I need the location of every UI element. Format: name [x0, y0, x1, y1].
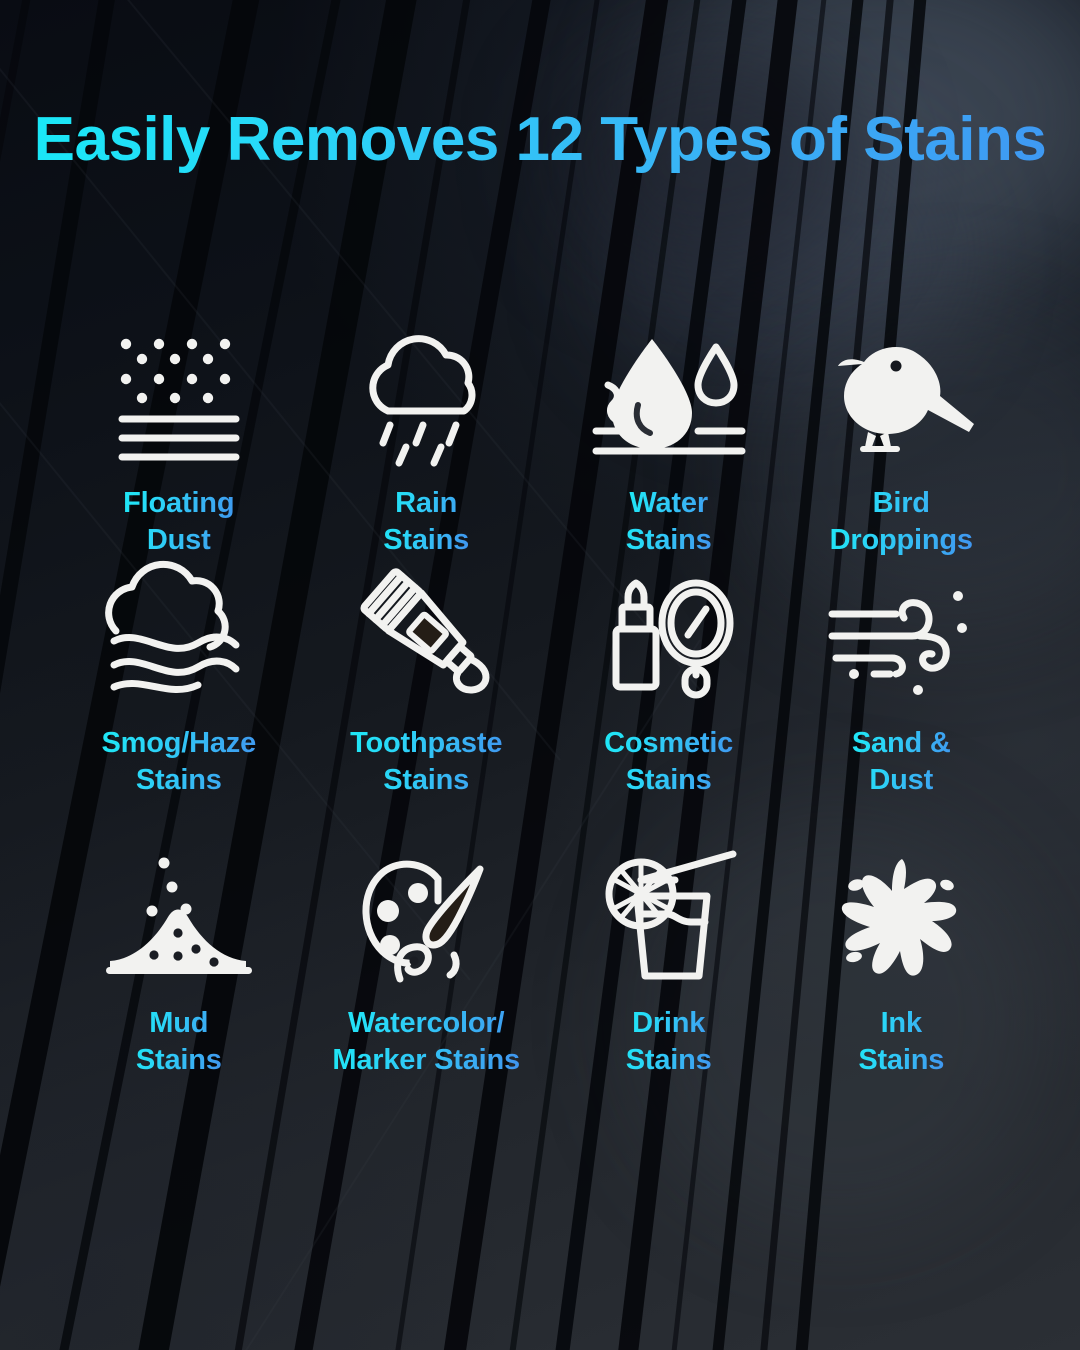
- floating-dust-icon: [104, 330, 254, 465]
- stain-card-sand-dust[interactable]: Sand & Dust: [782, 570, 1020, 798]
- stain-card-floating-dust[interactable]: Floating Dust: [60, 330, 298, 558]
- stain-card-label: Cosmetic Stains: [604, 725, 733, 798]
- stain-card-label: Floating Dust: [123, 485, 234, 558]
- stain-row: Smog/Haze Stains: [60, 570, 1020, 850]
- mud-mound-icon: [104, 850, 254, 985]
- stain-card-label: Sand & Dust: [852, 725, 951, 798]
- ink-splatter-icon: [834, 850, 969, 985]
- stain-card-label: Rain Stains: [383, 485, 469, 558]
- wind-dust-icon: [826, 570, 976, 705]
- stain-card-smog-haze[interactable]: Smog/Haze Stains: [60, 570, 298, 798]
- stain-card-label: Toothpaste Stains: [350, 725, 502, 798]
- drink-glass-icon: [599, 850, 739, 985]
- cosmetic-mirror-icon: [604, 570, 734, 705]
- stain-card-water-stains[interactable]: Water Stains: [555, 330, 783, 558]
- stain-card-mud[interactable]: Mud Stains: [60, 850, 298, 1078]
- stain-card-label: Smog/Haze Stains: [102, 725, 257, 798]
- rain-cloud-icon: [356, 330, 496, 465]
- stain-card-toothpaste[interactable]: Toothpaste Stains: [298, 570, 555, 798]
- stain-card-bird-droppings[interactable]: Bird Droppings: [782, 330, 1020, 558]
- toothpaste-tube-icon: [349, 570, 504, 705]
- stain-card-rain-stains[interactable]: Rain Stains: [298, 330, 555, 558]
- stain-row: Floating Dust: [60, 330, 1020, 570]
- paint-palette-icon: [356, 850, 496, 985]
- stain-card-ink[interactable]: Ink Stains: [782, 850, 1020, 1078]
- stain-card-watercolor[interactable]: Watercolor/ Marker Stains: [298, 850, 555, 1078]
- stain-card-label: Water Stains: [626, 485, 712, 558]
- stain-card-label: Watercolor/ Marker Stains: [332, 1005, 520, 1078]
- smog-haze-icon: [106, 570, 251, 705]
- page-title: Easily Removes 12 Types of Stains: [0, 104, 1080, 176]
- infographic-poster: Easily Removes 12 Types of Stains: [0, 0, 1080, 1350]
- stain-card-drink[interactable]: Drink Stains: [555, 850, 783, 1078]
- stain-card-label: Bird Droppings: [830, 485, 973, 558]
- stain-card-cosmetic[interactable]: Cosmetic Stains: [555, 570, 783, 798]
- stain-type-grid: Floating Dust: [60, 330, 1020, 1110]
- stain-card-label: Ink Stains: [858, 1005, 944, 1078]
- stain-card-label: Mud Stains: [136, 1005, 222, 1078]
- bird-icon: [824, 330, 979, 465]
- stain-card-label: Drink Stains: [626, 1005, 712, 1078]
- stain-row: Mud Stains: [60, 850, 1020, 1110]
- water-droplet-icon: [594, 330, 744, 465]
